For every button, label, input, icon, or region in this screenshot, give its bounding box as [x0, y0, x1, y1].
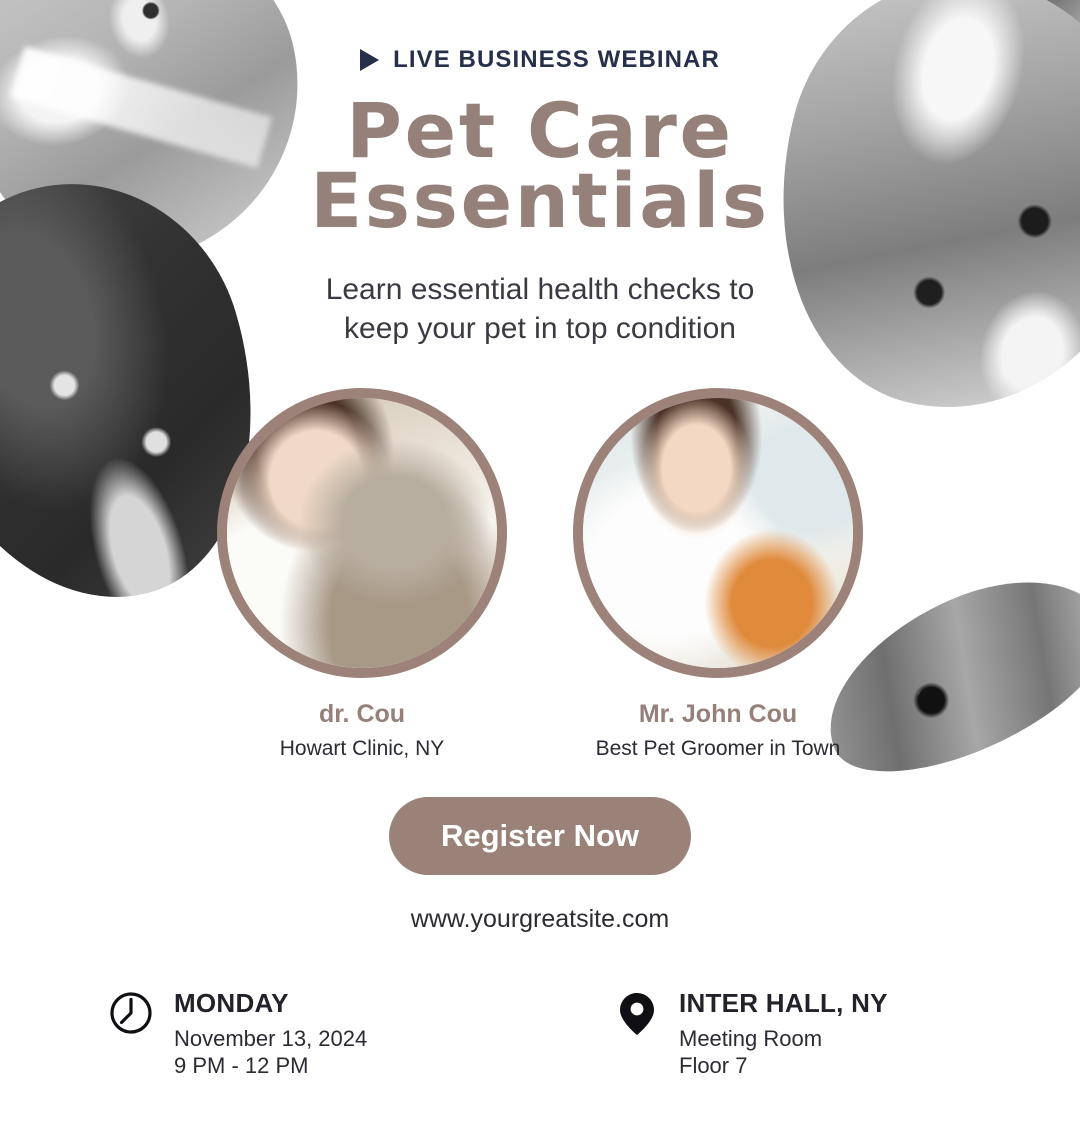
avatar — [573, 388, 863, 678]
poster-content: LIVE BUSINESS WEBINAR Pet Care Essential… — [0, 46, 1080, 1126]
clock-icon — [108, 990, 154, 1041]
subtitle-line-1: Learn essential health checks to — [0, 270, 1080, 309]
venue-line-2: Floor 7 — [679, 1053, 888, 1080]
venue-text-group: INTER HALL, NY Meeting Room Floor 7 — [679, 988, 888, 1080]
speaker-name: dr. Cou — [212, 700, 512, 729]
avatar — [217, 388, 507, 678]
speaker-role: Best Pet Groomer in Town — [568, 737, 868, 761]
date-text-group: MONDAY November 13, 2024 9 PM - 12 PM — [174, 988, 367, 1080]
map-pin-icon — [615, 990, 659, 1043]
cta-section: Register Now — [0, 797, 1080, 875]
subtitle: Learn essential health checks to keep yo… — [0, 270, 1080, 348]
eyebrow-label: LIVE BUSINESS WEBINAR — [393, 46, 720, 74]
date-lines: November 13, 2024 9 PM - 12 PM — [174, 1026, 367, 1080]
footer: MONDAY November 13, 2024 9 PM - 12 PM IN… — [0, 988, 1080, 1080]
venue-line-1: Meeting Room — [679, 1026, 888, 1053]
speaker-card: dr. Cou Howart Clinic, NY — [212, 388, 512, 761]
venue-heading: INTER HALL, NY — [679, 988, 888, 1019]
venue-info-block: INTER HALL, NY Meeting Room Floor 7 — [505, 988, 972, 1080]
speaker-photo-man-with-cat — [583, 398, 853, 668]
speaker-photo-woman-with-cat — [227, 398, 497, 668]
subtitle-line-2: keep your pet in top condition — [0, 309, 1080, 348]
poster-canvas: LIVE BUSINESS WEBINAR Pet Care Essential… — [0, 0, 1080, 1080]
title-line-2: Essentials — [0, 166, 1080, 236]
website-url[interactable]: www.yourgreatsite.com — [0, 905, 1080, 934]
speaker-role: Howart Clinic, NY — [212, 737, 512, 761]
speakers-section: dr. Cou Howart Clinic, NY Mr. John Cou B… — [0, 388, 1080, 761]
venue-lines: Meeting Room Floor 7 — [679, 1026, 888, 1080]
speaker-name: Mr. John Cou — [568, 700, 868, 729]
speaker-card: Mr. John Cou Best Pet Groomer in Town — [568, 388, 868, 761]
date-line-1: November 13, 2024 — [174, 1026, 367, 1053]
page-title: Pet Care Essentials — [0, 96, 1080, 236]
date-line-2: 9 PM - 12 PM — [174, 1053, 367, 1080]
play-triangle-icon — [360, 49, 379, 71]
date-info-block: MONDAY November 13, 2024 9 PM - 12 PM — [108, 988, 465, 1080]
register-now-button[interactable]: Register Now — [389, 797, 691, 875]
eyebrow-banner: LIVE BUSINESS WEBINAR — [0, 46, 1080, 74]
date-heading: MONDAY — [174, 988, 367, 1019]
